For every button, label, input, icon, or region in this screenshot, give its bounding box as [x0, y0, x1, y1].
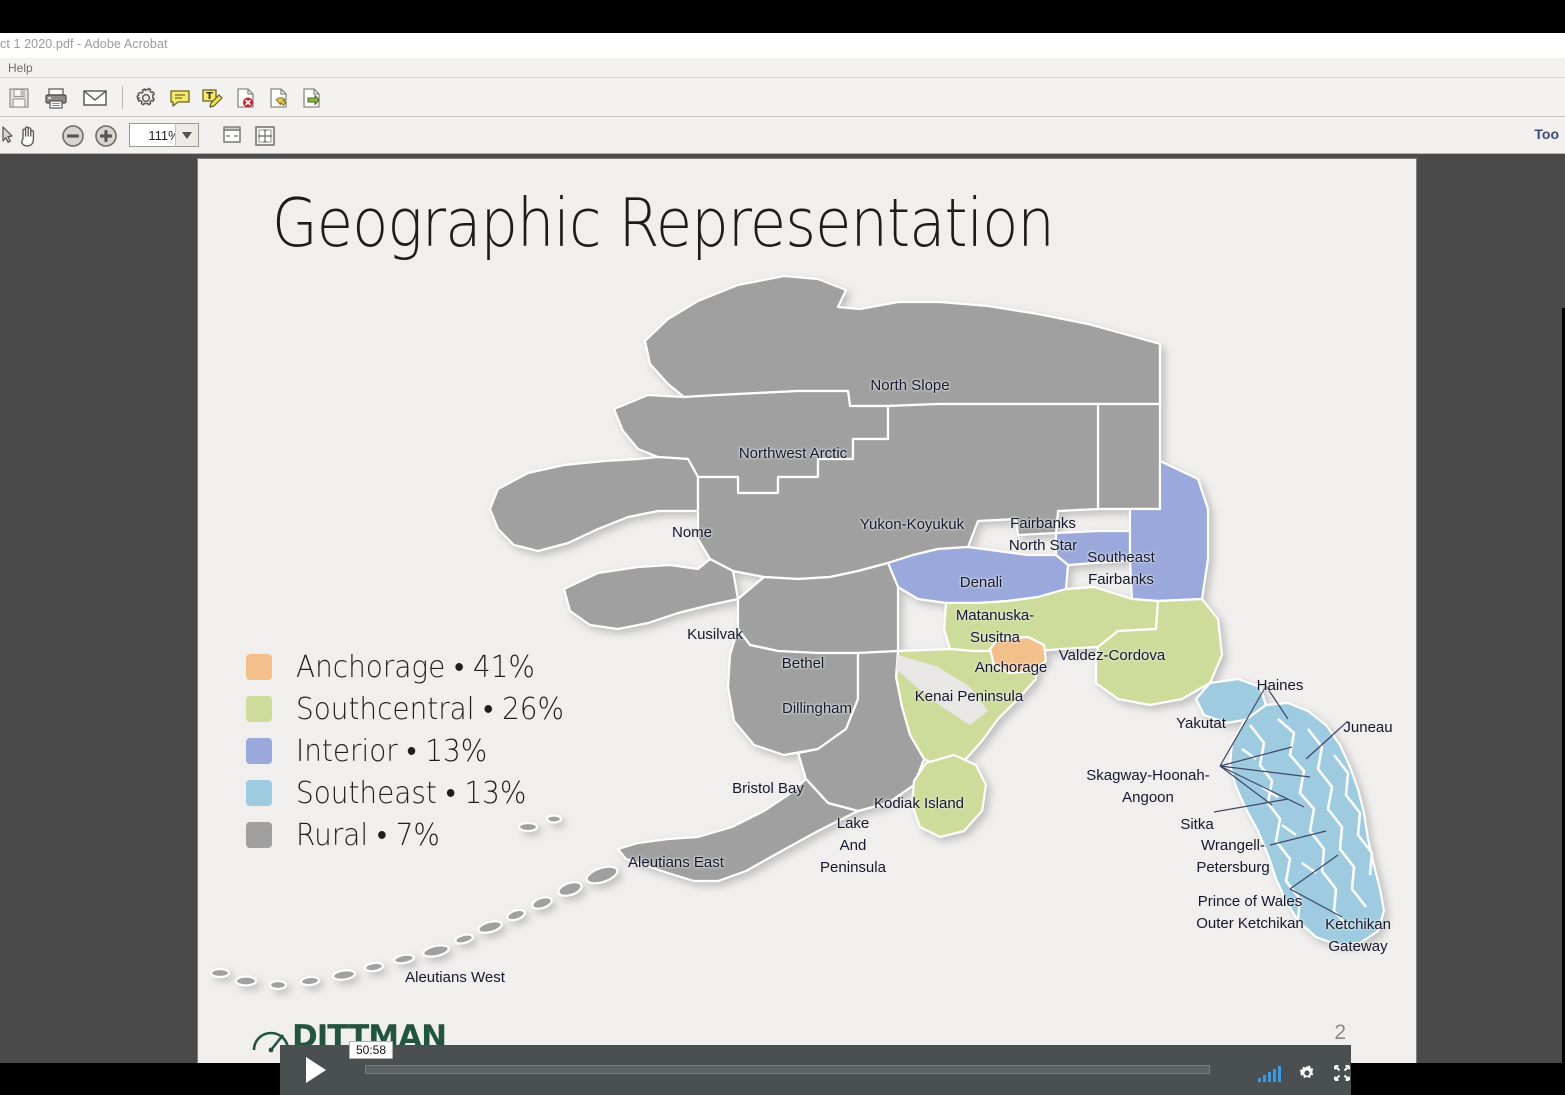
legend-item: Southcentral • 26%	[246, 688, 584, 730]
save-icon[interactable]	[5, 84, 33, 111]
legend-swatch	[246, 696, 272, 722]
map-label-ketchikan-gateway: KetchikanGateway	[1325, 914, 1391, 958]
document-viewport[interactable]: North SlopeNorthwest ArcticYukon-Koyukuk…	[0, 154, 1565, 1063]
fit-page-icon[interactable]	[251, 122, 279, 149]
toolbar-secondary	[0, 117, 1565, 154]
gear-icon[interactable]	[1298, 1064, 1316, 1082]
menu-bar: Help	[0, 58, 1565, 78]
map-legend: Anchorage • 41%Southcentral • 26%Interio…	[246, 646, 584, 856]
map-label-aleutians-west: Aleutians West	[405, 967, 505, 989]
page-number: 2	[1334, 1021, 1346, 1045]
letterbox-bottom-right	[1351, 1063, 1565, 1095]
import-pdf-icon[interactable]	[298, 84, 326, 111]
toolbar-primary: T	[0, 78, 1565, 117]
application-window: ct 1 2020.pdf - Adobe Acrobat Help	[0, 0, 1565, 1095]
volume-bars	[1258, 1067, 1281, 1082]
map-label-kusilvak: Kusilvak	[687, 624, 743, 646]
map-label-skagway-hoonah-angoon: Skagway-Hoonah-Angoon	[1086, 765, 1209, 809]
map-label-valdez-cordova: Valdez-Cordova	[1059, 645, 1165, 667]
legend-item: Interior • 13%	[246, 730, 584, 772]
play-icon	[306, 1057, 326, 1083]
map-label-southeast-fairbanks: SoutheastFairbanks	[1087, 547, 1155, 591]
time-tooltip: 50:58	[349, 1041, 393, 1059]
map-label-prince-of-wales-outer-ketchikan: Prince of WalesOuter Ketchikan	[1196, 891, 1304, 935]
map-label-juneau: Juneau	[1343, 717, 1392, 739]
legend-label: Anchorage • 41%	[296, 650, 535, 685]
legend-label: Southcentral • 26%	[296, 692, 564, 727]
fit-width-icon[interactable]	[218, 122, 246, 149]
pdf-page: North SlopeNorthwest ArcticYukon-Koyukuk…	[198, 159, 1416, 1063]
map-label-dillingham: Dillingham	[782, 698, 852, 720]
print-icon[interactable]	[42, 84, 70, 111]
export-pdf-icon[interactable]	[265, 84, 293, 111]
zoom-in-icon[interactable]	[92, 122, 120, 149]
legend-label: Southeast • 13%	[296, 776, 526, 811]
map-label-kodiak-island: Kodiak Island	[874, 793, 964, 815]
redact-icon[interactable]	[232, 84, 260, 111]
map-label-sitka: Sitka	[1180, 814, 1213, 836]
toolbar-separator-1	[122, 86, 123, 109]
legend-item: Southeast • 13%	[246, 772, 584, 814]
chevron-down-icon[interactable]	[175, 123, 199, 147]
fullscreen-icon[interactable]	[1333, 1064, 1351, 1082]
window-title: ct 1 2020.pdf - Adobe Acrobat	[0, 37, 168, 51]
email-icon[interactable]	[81, 84, 109, 111]
legend-label: Rural • 7%	[296, 818, 440, 853]
map-label-north-slope: North Slope	[870, 375, 949, 397]
map-label-yakutat: Yakutat	[1176, 713, 1226, 735]
player-right-controls	[1258, 1064, 1351, 1082]
map-label-wrangell-petersburg: Wrangell-Petersburg	[1196, 835, 1269, 879]
progress-bar[interactable]	[365, 1065, 1210, 1074]
map-label-anchorage: Anchorage	[975, 657, 1048, 679]
map-label-kenai-peninsula: Kenai Peninsula	[915, 686, 1023, 708]
volume-icon[interactable]	[1258, 1067, 1281, 1082]
letterbox-bottom-left	[0, 1063, 280, 1095]
tools-tab[interactable]: Too	[1534, 126, 1559, 142]
letterbox-top	[0, 0, 1565, 33]
legend-item: Anchorage • 41%	[246, 646, 584, 688]
text-edit-icon[interactable]: T	[199, 84, 227, 111]
map-label-northwest-arctic: Northwest Arctic	[739, 443, 847, 465]
svg-text:T: T	[206, 91, 213, 102]
legend-swatch	[246, 654, 272, 680]
gear-icon[interactable]	[132, 84, 160, 111]
map-label-denali: Denali	[960, 572, 1003, 594]
play-button[interactable]	[280, 1045, 352, 1095]
map-label-lake-and-peninsula: LakeAndPeninsula	[820, 813, 886, 878]
legend-label: Interior • 13%	[296, 734, 487, 769]
title-bar: ct 1 2020.pdf - Adobe Acrobat	[0, 33, 1565, 58]
map-label-bristol-bay: Bristol Bay	[732, 778, 804, 800]
map-label-bethel: Bethel	[782, 653, 825, 675]
comment-icon[interactable]	[166, 84, 194, 111]
legend-swatch	[246, 822, 272, 848]
legend-item: Rural • 7%	[246, 814, 584, 856]
menu-item-help[interactable]: Help	[8, 61, 33, 75]
hand-tool-icon[interactable]	[14, 122, 42, 149]
map-label-matanuska-susitna: Matanuska-Susitna	[956, 605, 1034, 649]
map-label-aleutians-east: Aleutians East	[628, 852, 724, 874]
legend-swatch	[246, 780, 272, 806]
map-label-nome: Nome	[672, 522, 712, 544]
legend-swatch	[246, 738, 272, 764]
map-label-fairbanks-north-star: FairbanksNorth Star	[1009, 513, 1077, 557]
map-label-yukon-koyukuk: Yukon-Koyukuk	[860, 514, 964, 536]
zoom-out-icon[interactable]	[59, 122, 87, 149]
page-title: Geographic Representation	[272, 184, 1054, 262]
map-label-haines: Haines	[1257, 675, 1304, 697]
